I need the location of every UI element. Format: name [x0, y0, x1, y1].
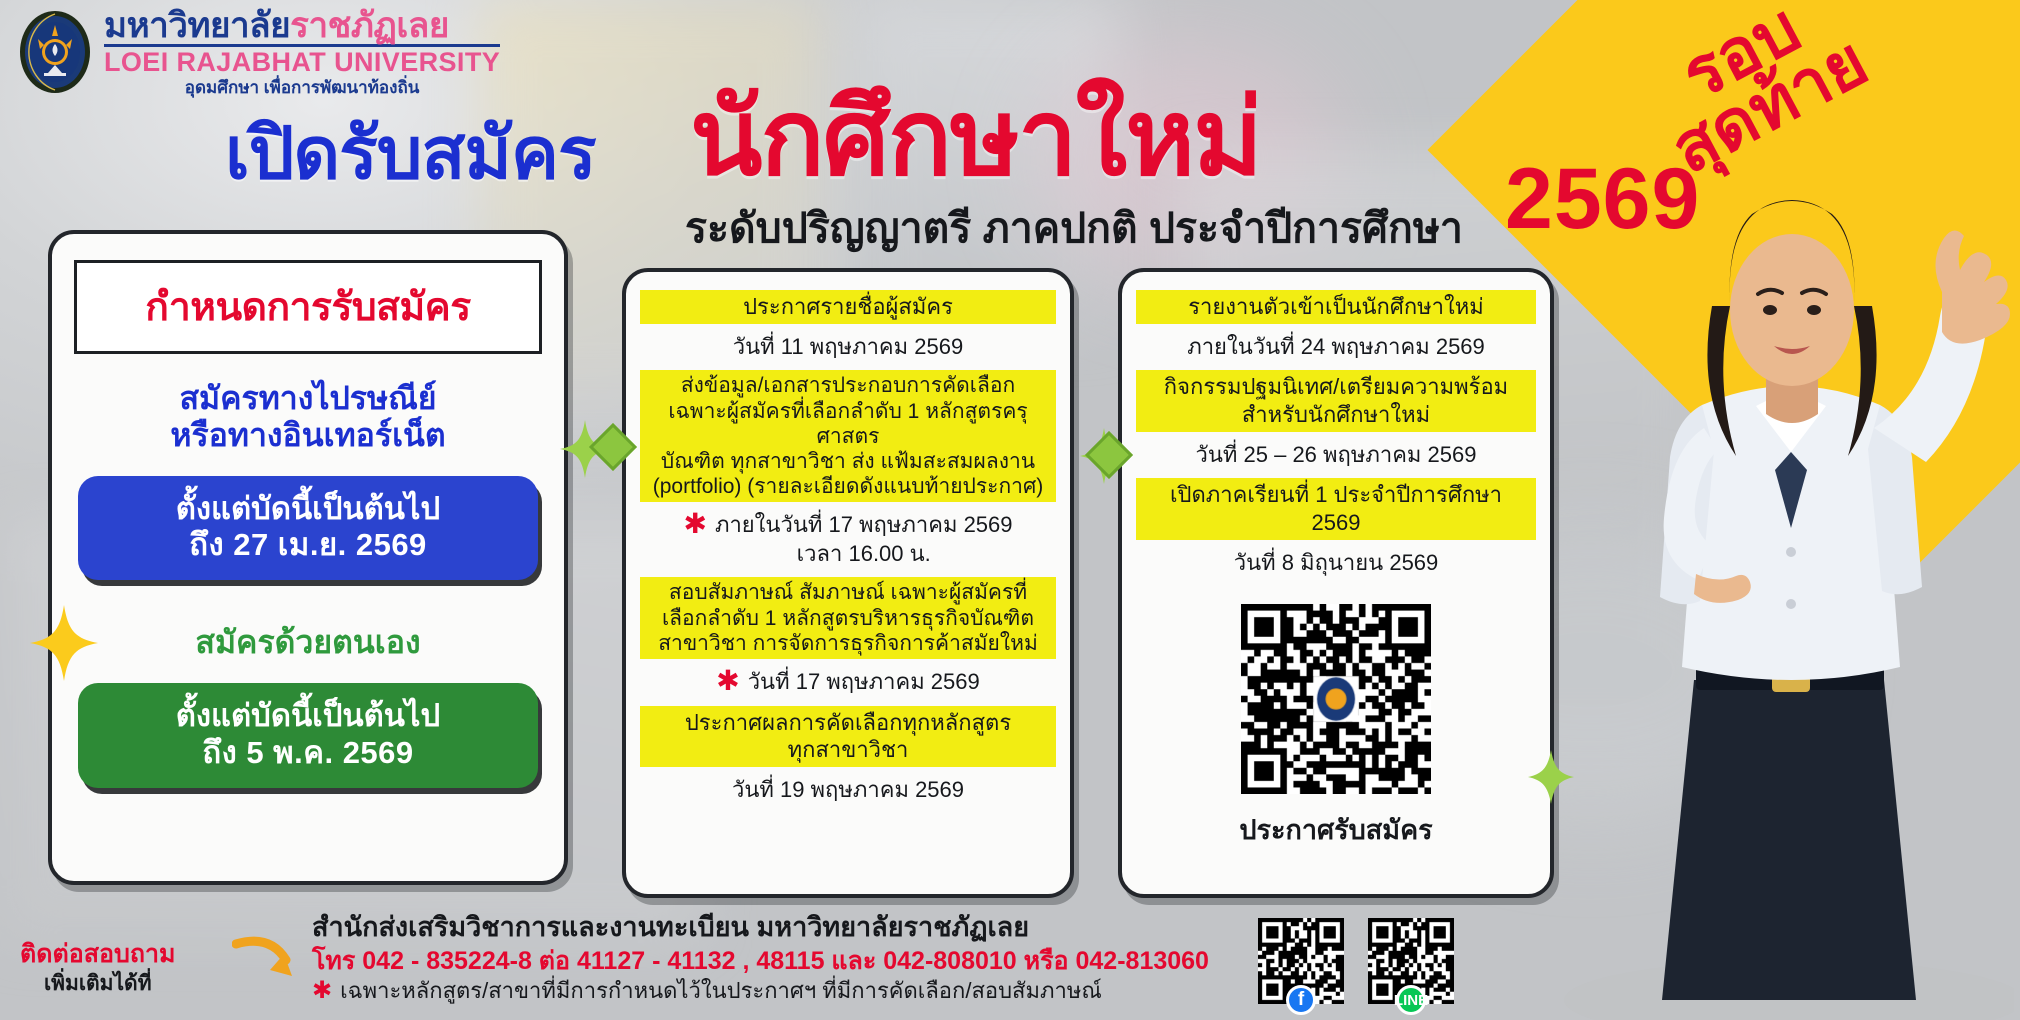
contact-badge: ติดต่อสอบถาม เพิ่มเติมได้ที่: [20, 941, 176, 996]
poster-root: รอบ สุดท้าย มหาวิทยาลัยราชภัฏเลย: [0, 0, 2020, 1020]
schedule-plain-text: วันที่ 8 มิถุนายน 2569: [1136, 540, 1536, 587]
headline-open: เปิดรับสมัคร: [225, 95, 596, 210]
left-panel-title: กำหนดการรับสมัคร: [77, 276, 539, 338]
line-icon[interactable]: LINE: [1396, 985, 1426, 1015]
left-section1-heading: สมัครทางไปรษณีย์ หรือทางอินเทอร์เน็ต: [52, 380, 564, 454]
middle-panel-card: ประกาศรายชื่อผู้สมัครวันที่ 11 พฤษภาคม 2…: [622, 268, 1074, 898]
left-section2-pill-line1: ตั้งแต่บัดนี้เป็นต้นไป: [86, 698, 530, 734]
asterisk-icon: ✱: [716, 668, 739, 693]
left-section1-pill-line1: ตั้งแต่บัดนี้เป็นต้นไป: [86, 491, 530, 527]
schedule-highlight: ส่งข้อมูล/เอกสารประกอบการคัดเลือกเฉพาะผู…: [640, 370, 1056, 502]
footer-note-row: ✱ เฉพาะหลักสูตร/สาขาที่มีการกำหนดไว้ในปร…: [312, 977, 1209, 1006]
qr-caption: ประกาศรับสมัคร: [1239, 808, 1432, 851]
left-section2-date-pill: ตั้งแต่บัดนี้เป็นต้นไป ถึง 5 พ.ค. 2569: [78, 683, 538, 788]
schedule-highlight: กิจกรรมปฐมนิเทศ/เตรียมความพร้อมสำหรับนัก…: [1136, 370, 1536, 431]
sparkle-icon: [30, 605, 98, 681]
left-section1-date-pill: ตั้งแต่บัดนี้เป็นต้นไป ถึง 27 เม.ย. 2569: [78, 476, 538, 581]
schedule-highlight: สอบสัมภาษณ์ สัมภาษณ์ เฉพาะผู้สมัครที่เลื…: [640, 577, 1056, 659]
left-section2-heading: สมัครด้วยตนเอง: [52, 624, 564, 661]
left-section1-pill-line2: ถึง 27 เม.ย. 2569: [86, 526, 530, 563]
qr-code-icon[interactable]: [1241, 604, 1431, 794]
schedule-star-text: วันที่ 17 พฤษภาคม 2569: [748, 668, 980, 697]
brand-block: มหาวิทยาลัยราชภัฏเลย LOEI RAJABHAT UNIVE…: [18, 8, 500, 96]
left-section2-pill-line2: ถึง 5 พ.ค. 2569: [86, 734, 530, 771]
brand-motto: อุดมศึกษา เพื่อการพัฒนาท้องถิ่น: [104, 79, 500, 96]
facebook-icon[interactable]: f: [1286, 985, 1316, 1015]
brand-name-thai: มหาวิทยาลัยราชภัฏเลย: [104, 8, 500, 47]
asterisk-icon: ✱: [683, 511, 706, 536]
schedule-plain-text: วันที่ 11 พฤษภาคม 2569: [640, 324, 1056, 371]
university-seal-icon: [18, 9, 92, 95]
qr-block: ประกาศรับสมัคร: [1136, 604, 1536, 851]
schedule-star-text: ภายในวันที่ 17 พฤษภาคม 2569เวลา 16.00 น.: [715, 511, 1013, 568]
right-panel-items: รายงานตัวเข้าเป็นนักศึกษาใหม่ภายในวันที่…: [1136, 290, 1536, 586]
schedule-plain-text: ภายในวันที่ 24 พฤษภาคม 2569: [1136, 324, 1536, 371]
schedule-plain-text: วันที่ 25 – 26 พฤษภาคม 2569: [1136, 432, 1536, 479]
middle-panel-items: ประกาศรายชื่อผู้สมัครวันที่ 11 พฤษภาคม 2…: [640, 290, 1056, 814]
left-panel-title-box: กำหนดการรับสมัคร: [74, 260, 542, 354]
footer-text-block: สำนักส่งเสริมวิชาการและงานทะเบียน มหาวิท…: [312, 910, 1209, 1006]
schedule-highlight: เปิดภาคเรียนที่ 1 ประจำปีการศึกษา 2569: [1136, 478, 1536, 539]
asterisk-icon: ✱: [312, 980, 332, 1002]
schedule-plain-text: วันที่ 19 พฤษภาคม 2569: [640, 767, 1056, 814]
schedule-star-row: ✱ภายในวันที่ 17 พฤษภาคม 2569เวลา 16.00 น…: [640, 502, 1056, 577]
brand-text: มหาวิทยาลัยราชภัฏเลย LOEI RAJABHAT UNIVE…: [104, 8, 500, 96]
left-panel-card: กำหนดการรับสมัคร สมัครทางไปรษณีย์ หรือทา…: [48, 230, 568, 885]
footer-phone: โทร 042 - 835224-8 ต่อ 41127 - 41132 , 4…: [312, 945, 1209, 978]
contact-badge-line1: ติดต่อสอบถาม: [20, 941, 176, 969]
left-section1-heading-line1: สมัครทางไปรษณีย์: [52, 380, 564, 417]
curved-arrow-icon: [232, 936, 302, 982]
schedule-highlight: ประกาศผลการคัดเลือกทุกหลักสูตรทุกสาขาวิช…: [640, 706, 1056, 767]
sparkle-icon: [1528, 750, 1574, 804]
right-panel-card: รายงานตัวเข้าเป็นนักศึกษาใหม่ภายในวันที่…: [1118, 268, 1554, 898]
line-qr-code-icon[interactable]: LINE: [1368, 918, 1454, 1004]
brand-name-english: LOEI RAJABHAT UNIVERSITY: [104, 49, 500, 76]
facebook-qr-code-icon[interactable]: f: [1258, 918, 1344, 1004]
brand-name-thai-part2: ราชภัฏเลย: [290, 6, 449, 45]
brand-name-thai-part1: มหาวิทยาลัย: [104, 6, 290, 45]
headline-subtitle: ระดับปริญญาตรี ภาคปกติ ประจำปีการศึกษา: [685, 196, 1463, 261]
schedule-highlight: ประกาศรายชื่อผู้สมัคร: [640, 290, 1056, 324]
contact-badge-line2: เพิ่มเติมได้ที่: [20, 971, 176, 996]
footer-qr-group: f LINE: [1258, 918, 1454, 1004]
headline-open-text: เปิดรับสมัคร: [225, 95, 596, 210]
left-section1-heading-line2: หรือทางอินเทอร์เน็ต: [52, 417, 564, 454]
schedule-star-row: ✱วันที่ 17 พฤษภาคม 2569: [640, 659, 1056, 706]
footer-office: สำนักส่งเสริมวิชาการและงานทะเบียน มหาวิท…: [312, 910, 1209, 945]
footer-note: เฉพาะหลักสูตร/สาขาที่มีการกำหนดไว้ในประก…: [340, 977, 1102, 1006]
footer: ติดต่อสอบถาม เพิ่มเติมได้ที่ สำนักส่งเสร…: [0, 890, 2020, 1020]
schedule-highlight: รายงานตัวเข้าเป็นนักศึกษาใหม่: [1136, 290, 1536, 324]
